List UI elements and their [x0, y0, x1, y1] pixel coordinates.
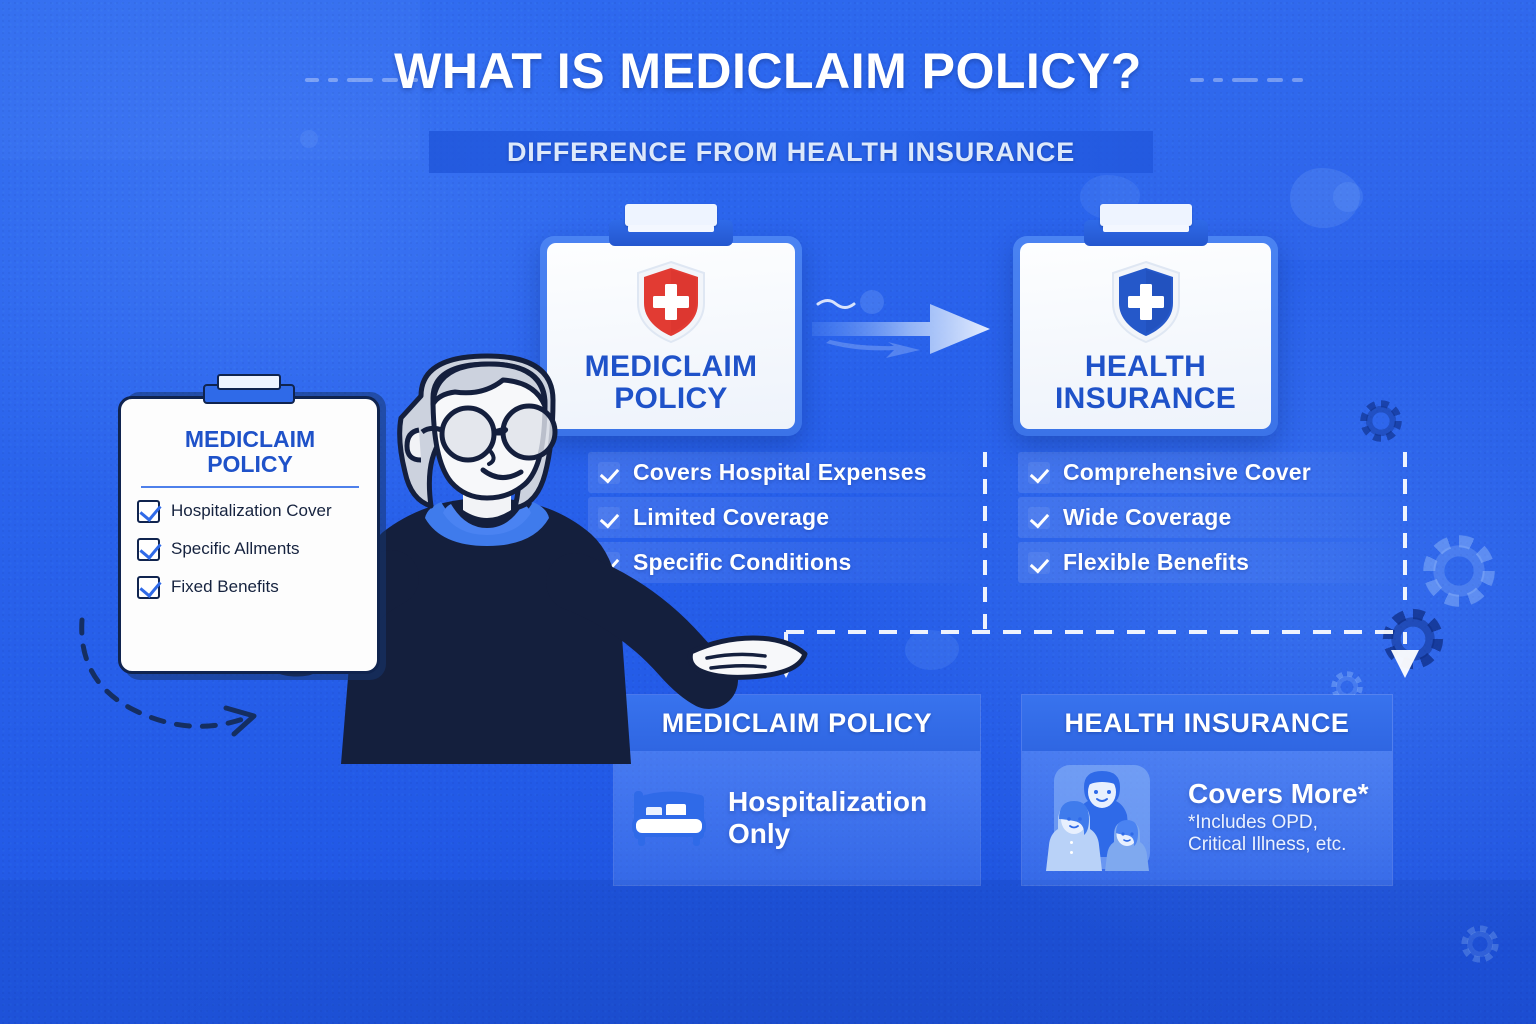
page-subtitle: DIFFERENCE FROM HEALTH INSURANCE	[507, 137, 1075, 168]
checklist-item[interactable]: Specific Allments	[137, 538, 363, 561]
feature-list-health-insurance: Comprehensive Cover Wide Coverage Flexib…	[1018, 452, 1408, 587]
card-title-line2: INSURANCE	[1055, 383, 1236, 415]
clipboard-clip-line	[628, 225, 714, 232]
panel-text-note: *Includes OPD, Critical Illness, etc.	[1188, 812, 1374, 857]
clipboard-clip-top	[217, 374, 281, 390]
shield-cross-red-icon	[634, 259, 708, 345]
list-item[interactable]: Flexible Benefits	[1018, 542, 1408, 583]
list-item-label: Comprehensive Cover	[1063, 459, 1311, 486]
panel-text: Covers More* *Includes OPD, Critical Ill…	[1188, 779, 1374, 857]
panel-text-line2: Only	[728, 818, 927, 850]
panel-heading: HEALTH INSURANCE	[1022, 695, 1392, 751]
panel-heading-label: HEALTH INSURANCE	[1064, 708, 1349, 739]
card-title-line1: HEALTH	[1055, 351, 1236, 383]
clipboard-page: MEDICLAIM POLICY Hospitalization Cover S…	[118, 396, 380, 674]
clipboard-clip-top	[625, 204, 717, 226]
check-icon	[1028, 462, 1050, 484]
checklist-item[interactable]: Hospitalization Cover	[137, 500, 363, 523]
panel-text: Hospitalization Only	[728, 786, 927, 851]
checkbox-checked-icon[interactable]	[137, 500, 160, 523]
page-title: WHAT IS MEDICLAIM POLICY?	[394, 46, 1142, 96]
hospital-bed-icon	[632, 785, 706, 852]
clipboard-title-line1: MEDICLAIM	[137, 427, 363, 452]
check-icon	[1028, 552, 1050, 574]
infographic-canvas: WHAT IS MEDICLAIM POLICY? DIFFERENCE FRO…	[0, 0, 1536, 1024]
card-title: HEALTH INSURANCE	[1055, 351, 1236, 415]
subtitle-band: DIFFERENCE FROM HEALTH INSURANCE	[429, 131, 1153, 173]
clipboard-clip-top	[1100, 204, 1192, 226]
shield-cross-blue-icon	[1109, 259, 1183, 345]
panel-health-insurance[interactable]: HEALTH INSURANCE	[1021, 694, 1393, 886]
checkbox-checked-icon[interactable]	[137, 538, 160, 561]
panel-body: Covers More* *Includes OPD, Critical Ill…	[1022, 751, 1392, 885]
checklist-item-label: Hospitalization Cover	[171, 501, 332, 521]
checklist-item[interactable]: Fixed Benefits	[137, 576, 363, 599]
list-item[interactable]: Wide Coverage	[1018, 497, 1408, 538]
right-arrow-icon	[812, 296, 1002, 362]
list-item-label: Wide Coverage	[1063, 504, 1232, 531]
checklist-item-label: Fixed Benefits	[171, 577, 279, 597]
list-item[interactable]: Comprehensive Cover	[1018, 452, 1408, 493]
clipboard-board: HEALTH INSURANCE	[1013, 236, 1278, 436]
family-icon	[1040, 761, 1166, 876]
clipboard-page: HEALTH INSURANCE	[1020, 243, 1271, 429]
check-icon	[1028, 507, 1050, 529]
clipboard-title: MEDICLAIM POLICY	[137, 427, 363, 477]
panel-text-main: Covers More*	[1188, 779, 1374, 810]
divider	[141, 486, 359, 488]
list-item-label: Flexible Benefits	[1063, 549, 1249, 576]
clipboard-title-line2: POLICY	[137, 452, 363, 477]
header: WHAT IS MEDICLAIM POLICY?	[0, 46, 1536, 96]
title-decor-dashes-left	[305, 78, 418, 82]
title-decor-dashes-right	[1190, 78, 1303, 82]
clipboard-clip-line	[1103, 225, 1189, 232]
checkbox-checked-icon[interactable]	[137, 576, 160, 599]
checklist-item-label: Specific Allments	[171, 539, 300, 559]
